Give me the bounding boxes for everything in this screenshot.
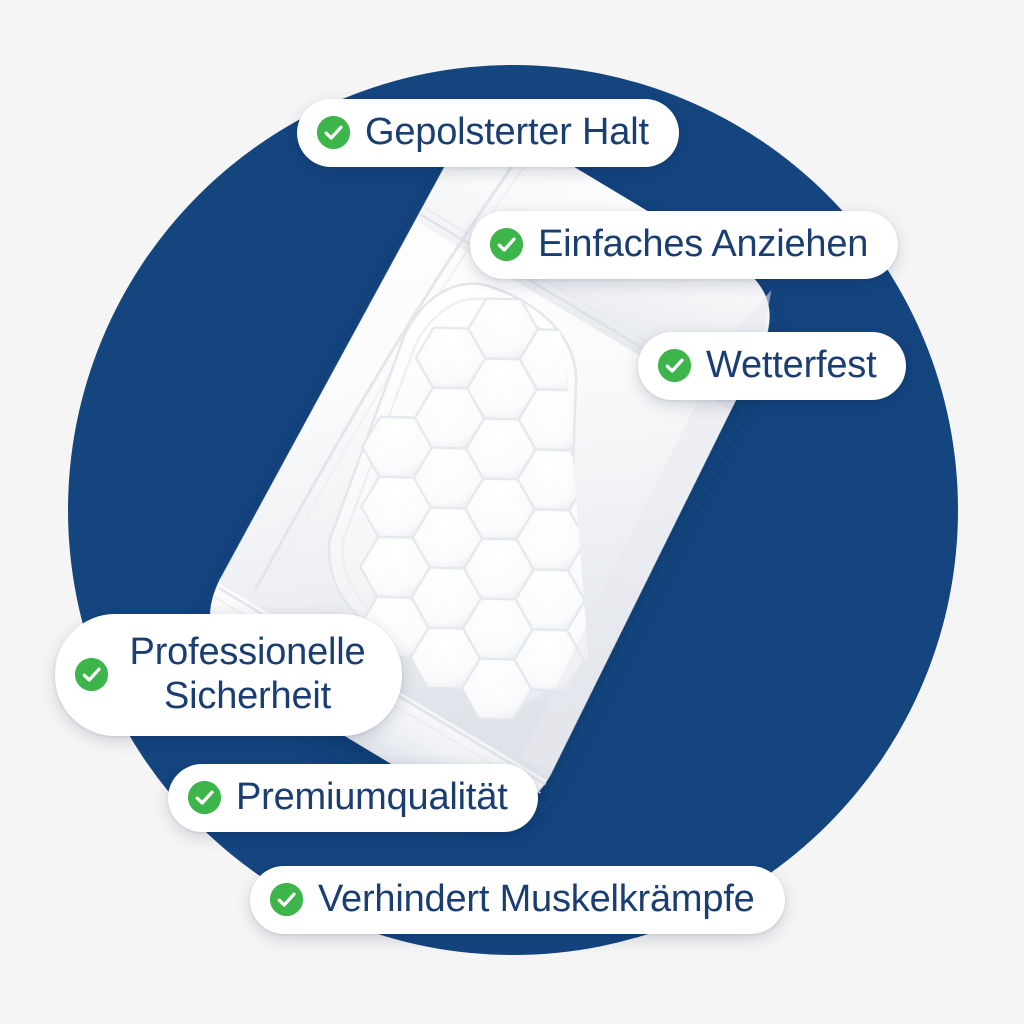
check-circle-icon — [188, 781, 221, 814]
check-circle-icon — [270, 883, 303, 916]
feature-badge-label: Premiumqualität — [236, 775, 508, 819]
feature-badge-label: Verhindert Muskelkrämpfe — [318, 877, 755, 921]
feature-badge-einfaches-anziehen[interactable]: Einfaches Anziehen — [470, 211, 898, 279]
feature-badge-gepolsterter-halt[interactable]: Gepolsterter Halt — [297, 99, 679, 167]
check-circle-icon — [490, 228, 523, 261]
product-infographic: Gepolsterter Halt Einfaches Anziehen Wet… — [0, 0, 1024, 1024]
feature-badge-premiumqualitaet[interactable]: Premiumqualität — [168, 764, 538, 832]
feature-badge-wetterfest[interactable]: Wetterfest — [638, 332, 906, 400]
feature-badge-verhindert-muskelkraempfe[interactable]: Verhindert Muskelkrämpfe — [250, 866, 785, 934]
feature-badge-label: Gepolsterter Halt — [365, 110, 649, 154]
check-circle-icon — [75, 658, 108, 691]
check-circle-icon — [317, 116, 350, 149]
check-circle-icon — [658, 349, 691, 382]
feature-badge-professionelle-sicherheit[interactable]: Professionelle Sicherheit — [55, 614, 402, 736]
feature-badge-label: Einfaches Anziehen — [538, 222, 868, 266]
feature-badge-label: Professionelle Sicherheit — [123, 630, 372, 718]
feature-badge-label: Wetterfest — [706, 343, 876, 387]
